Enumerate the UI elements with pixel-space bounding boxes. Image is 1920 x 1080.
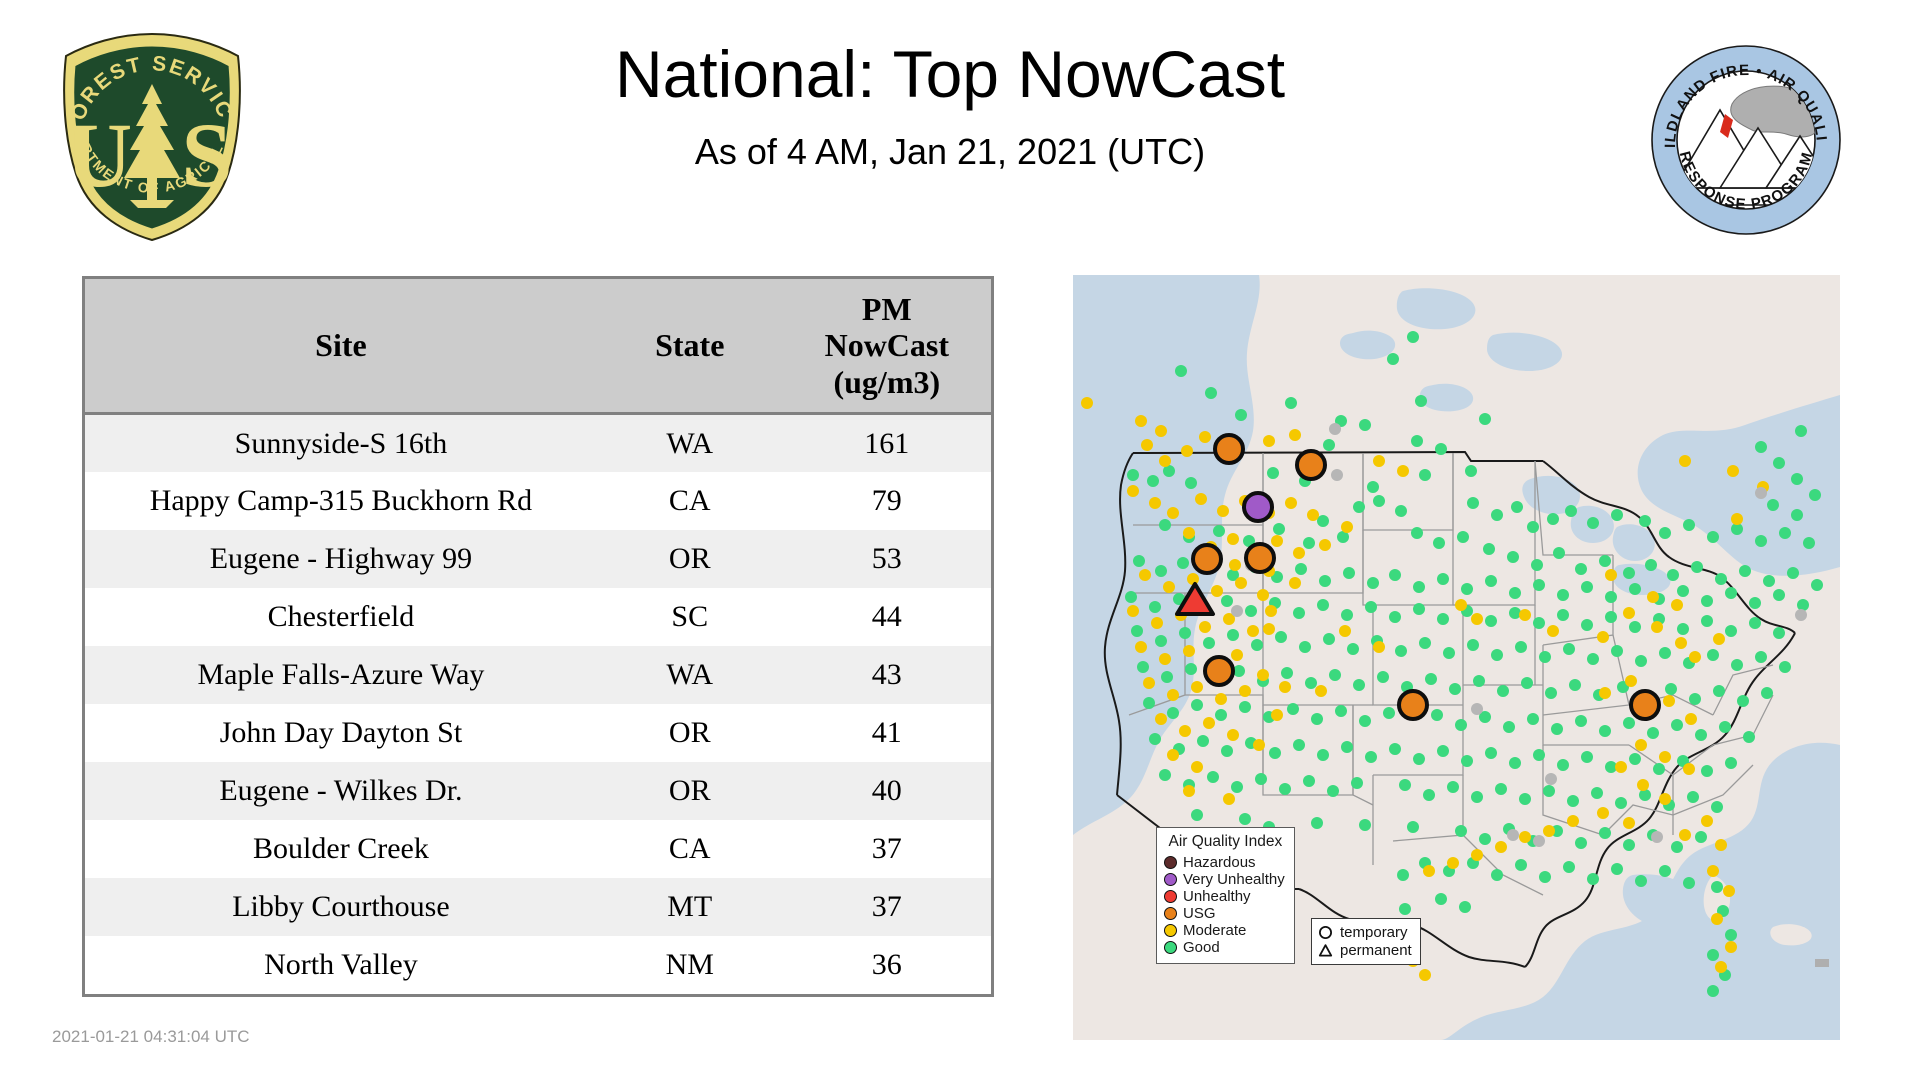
table-row[interactable]: Libby Courthouse MT 37 [85, 878, 991, 936]
table-row[interactable]: John Day Dayton St OR 41 [85, 704, 991, 762]
aqi-legend-item-usg[interactable]: USG [1164, 905, 1285, 922]
aqi-legend-item-good[interactable]: Good [1164, 939, 1285, 956]
aqi-swatch-unhealthy [1164, 890, 1177, 903]
cell-value: 79 [783, 472, 991, 530]
cell-value: 44 [783, 588, 991, 646]
aqi-label-moderate: Moderate [1183, 923, 1246, 938]
monitor-type-label-temporary: temporary [1340, 925, 1408, 940]
aqi-label-good: Good [1183, 940, 1220, 955]
cell-site: Happy Camp-315 Buckhorn Rd [85, 472, 597, 530]
cell-site: Libby Courthouse [85, 878, 597, 936]
page-subtitle: As of 4 AM, Jan 21, 2021 (UTC) [260, 131, 1640, 173]
cell-value: 37 [783, 878, 991, 936]
top-nowcast-table: Site State PM NowCast (ug/m3) Sunnyside-… [85, 279, 991, 994]
table-body: Sunnyside-S 16th WA 161 Happy Camp-315 B… [85, 414, 991, 994]
cell-state: OR [597, 762, 783, 820]
table-row[interactable]: Maple Falls-Azure Way WA 43 [85, 646, 991, 704]
table-row[interactable]: Sunnyside-S 16th WA 161 [85, 414, 991, 472]
cell-value: 41 [783, 704, 991, 762]
aqi-legend: Air Quality Index Hazardous Very Unhealt… [1156, 827, 1295, 964]
cell-state: OR [597, 530, 783, 588]
aqi-label-usg: USG [1183, 906, 1216, 921]
aqi-label-very-unhealthy: Very Unhealthy [1183, 872, 1285, 887]
footer-timestamp: 2021-01-21 04:31:04 UTC [52, 1027, 250, 1047]
cell-state: MT [597, 878, 783, 936]
site-marker-very-unhealthy[interactable] [1244, 493, 1272, 521]
cell-site: Eugene - Highway 99 [85, 530, 597, 588]
monitor-type-legend: temporary permanent [1311, 918, 1421, 965]
site-marker-usg[interactable] [1399, 691, 1427, 719]
cell-site: John Day Dayton St [85, 704, 597, 762]
cell-value: 161 [783, 414, 991, 472]
table-row[interactable]: Happy Camp-315 Buckhorn Rd CA 79 [85, 472, 991, 530]
site-marker-usg[interactable] [1193, 545, 1221, 573]
wildland-fire-air-quality-response-program-logo: WILDLAND FIRE • AIR QUALITY RESPONSE PRO… [1648, 42, 1844, 238]
cell-state: NM [597, 936, 783, 994]
cell-state: SC [597, 588, 783, 646]
table-row[interactable]: North Valley NM 36 [85, 936, 991, 994]
top-nowcast-table-container: Site State PM NowCast (ug/m3) Sunnyside-… [82, 276, 994, 997]
cell-site: Maple Falls-Azure Way [85, 646, 597, 704]
site-marker-usg[interactable] [1205, 657, 1233, 685]
usfs-letter-u: U [66, 104, 132, 206]
cell-value: 43 [783, 646, 991, 704]
column-header-pm-line2: NowCast [825, 327, 949, 363]
aqi-swatch-good [1164, 941, 1177, 954]
site-marker-usg[interactable] [1246, 544, 1274, 572]
cell-state: OR [597, 704, 783, 762]
column-header-pm-nowcast: PM NowCast (ug/m3) [783, 279, 991, 414]
aqi-label-unhealthy: Unhealthy [1183, 889, 1251, 904]
column-header-pm-line1: PM [862, 291, 912, 327]
cell-site: North Valley [85, 936, 597, 994]
table-row[interactable]: Boulder Creek CA 37 [85, 820, 991, 878]
aqi-legend-item-very-unhealthy[interactable]: Very Unhealthy [1164, 871, 1285, 888]
cell-state: CA [597, 820, 783, 878]
table-row[interactable]: Eugene - Highway 99 OR 53 [85, 530, 991, 588]
page-title: National: Top NowCast [260, 40, 1640, 109]
title-block: National: Top NowCast As of 4 AM, Jan 21… [260, 40, 1640, 173]
column-header-site-label: Site [315, 327, 367, 363]
aqi-legend-title: Air Quality Index [1166, 833, 1285, 851]
monitor-type-item-permanent[interactable]: permanent [1318, 941, 1412, 959]
cell-site: Sunnyside-S 16th [85, 414, 597, 472]
cell-site: Eugene - Wilkes Dr. [85, 762, 597, 820]
cell-value: 40 [783, 762, 991, 820]
column-header-state-label: State [655, 327, 724, 363]
cell-value: 36 [783, 936, 991, 994]
circle-outline-icon [1318, 925, 1333, 940]
column-header-site: Site [85, 279, 597, 414]
aqi-swatch-moderate [1164, 924, 1177, 937]
cell-site: Chesterfield [85, 588, 597, 646]
aqi-label-hazardous: Hazardous [1183, 855, 1256, 870]
site-marker-usg[interactable] [1297, 451, 1325, 479]
aqi-swatch-hazardous [1164, 856, 1177, 869]
aqi-swatch-very-unhealthy [1164, 873, 1177, 886]
column-header-state: State [597, 279, 783, 414]
table-row[interactable]: Chesterfield SC 44 [85, 588, 991, 646]
monitor-type-label-permanent: permanent [1340, 943, 1412, 958]
site-marker-usg[interactable] [1215, 435, 1243, 463]
table-header-row: Site State PM NowCast (ug/m3) [85, 279, 991, 414]
cell-value: 37 [783, 820, 991, 878]
dashboard-page: FOREST SERVICE DEPARTMENT OF AGRICULTURE… [0, 0, 1920, 1080]
aqi-legend-item-unhealthy[interactable]: Unhealthy [1164, 888, 1285, 905]
us-air-quality-monitor-map[interactable]: Air Quality Index Hazardous Very Unhealt… [1073, 275, 1840, 1040]
aqi-legend-item-moderate[interactable]: Moderate [1164, 922, 1285, 939]
cell-state: WA [597, 414, 783, 472]
aqi-swatch-usg [1164, 907, 1177, 920]
site-marker-usg[interactable] [1631, 691, 1659, 719]
cell-value: 53 [783, 530, 991, 588]
cell-site: Boulder Creek [85, 820, 597, 878]
column-header-pm-line3: (ug/m3) [833, 364, 940, 400]
triangle-outline-icon [1318, 943, 1333, 958]
monitor-type-item-temporary[interactable]: temporary [1318, 923, 1412, 941]
usfs-letter-s: S [181, 104, 232, 206]
cell-state: WA [597, 646, 783, 704]
table-row[interactable]: Eugene - Wilkes Dr. OR 40 [85, 762, 991, 820]
cell-state: CA [597, 472, 783, 530]
usfs-shield-logo: FOREST SERVICE DEPARTMENT OF AGRICULTURE… [52, 28, 252, 243]
aqi-legend-item-hazardous[interactable]: Hazardous [1164, 854, 1285, 871]
